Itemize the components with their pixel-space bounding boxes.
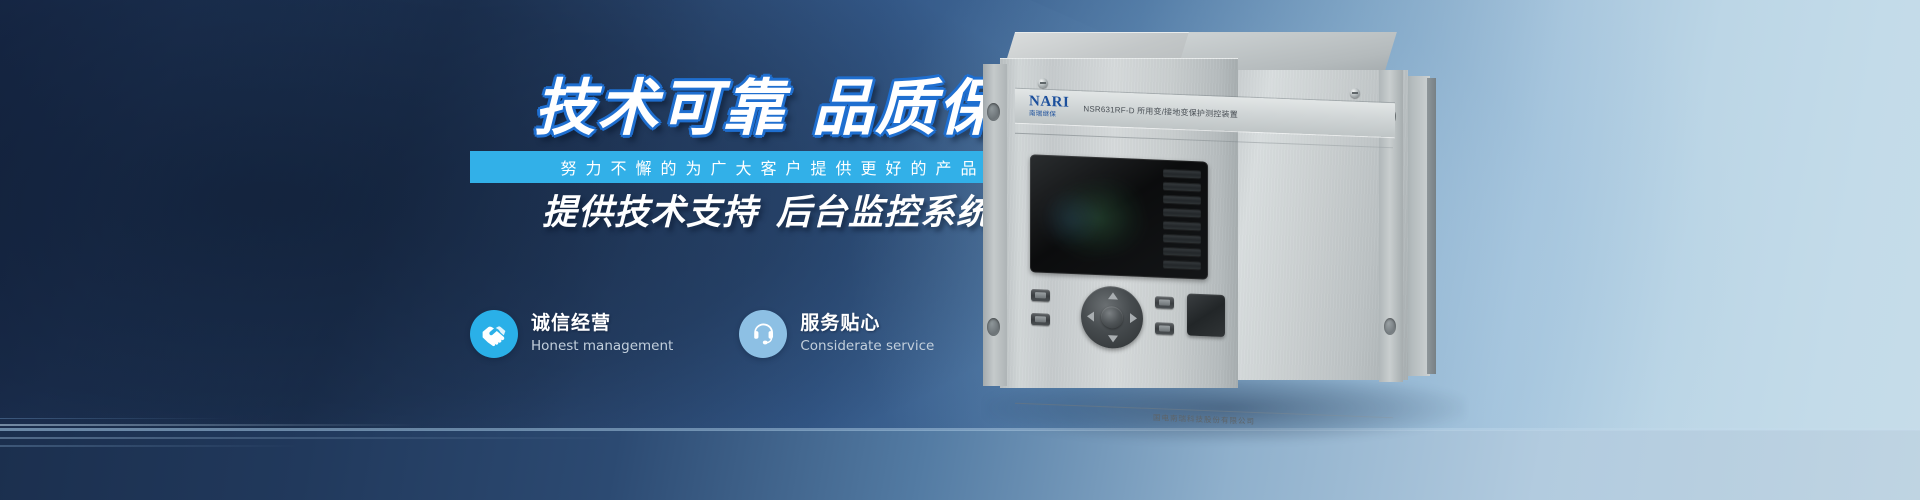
nari-logo: NARI 南瑞继保	[1029, 94, 1069, 119]
arrow-right-icon[interactable]	[1130, 313, 1137, 323]
mounting-hole	[987, 318, 1000, 336]
led-indicator	[1163, 234, 1201, 244]
screw	[1350, 88, 1360, 98]
arrow-down-icon[interactable]	[1108, 335, 1118, 342]
device-right-edge	[1427, 78, 1436, 374]
headset-icon	[739, 310, 787, 358]
device-model-label: NSR631RF-D 所用变/接地变保护测控装置	[1083, 103, 1238, 120]
headline-primary: 技术可靠品质保障	[0, 78, 1064, 139]
feature-title-en: Honest management	[531, 339, 673, 355]
handshake-icon	[470, 310, 518, 358]
led-indicator	[1163, 169, 1201, 179]
function-button[interactable]	[1155, 322, 1174, 335]
feature-item-considerate-service: 服务贴心 Considerate service	[739, 310, 934, 358]
feature-text: 服务贴心 Considerate service	[800, 313, 934, 354]
device-port-panel	[1187, 293, 1225, 337]
feature-text: 诚信经营 Honest management	[531, 313, 673, 354]
led-indicator-group	[1163, 169, 1201, 270]
function-button[interactable]	[1031, 313, 1050, 326]
dpad-navigation[interactable]	[1081, 285, 1143, 350]
brand-name-cn: 南瑞继保	[1029, 111, 1069, 119]
function-button[interactable]	[1155, 296, 1174, 309]
brand-name: NARI	[1029, 94, 1069, 111]
arrow-left-icon[interactable]	[1087, 311, 1094, 321]
led-indicator	[1163, 221, 1201, 231]
device-lcd-screen	[1030, 154, 1208, 279]
feature-title-cn: 服务贴心	[800, 313, 934, 335]
mounting-hole	[987, 103, 1000, 121]
headline-secondary: 提供技术支持后台监控系统调试	[0, 192, 1064, 234]
function-button[interactable]	[1031, 289, 1050, 302]
arrow-up-icon[interactable]	[1108, 292, 1118, 299]
led-indicator	[1163, 260, 1201, 270]
led-indicator	[1163, 182, 1201, 192]
copy-block: 技术可靠品质保障 努力不懈的为广大客户提供更好的产品 提供技术支持后台监控系统调…	[0, 0, 1120, 500]
feature-title-en: Considerate service	[800, 339, 934, 355]
subtitle-text: 努力不懈的为广大客户提供更好的产品	[551, 155, 985, 179]
led-indicator	[1163, 208, 1201, 218]
led-indicator	[1163, 195, 1201, 205]
screw	[1038, 78, 1048, 88]
device-control-panel	[1027, 285, 1277, 357]
headline-secondary-part1: 提供技术支持	[542, 193, 758, 232]
feature-title-cn: 诚信经营	[531, 313, 673, 335]
feature-item-honest-management: 诚信经营 Honest management	[470, 310, 673, 358]
led-indicator	[1163, 247, 1201, 257]
ok-button[interactable]	[1101, 306, 1123, 329]
hero-banner: 技术可靠品质保障 努力不懈的为广大客户提供更好的产品 提供技术支持后台监控系统调…	[0, 0, 1920, 500]
mounting-hole	[1384, 318, 1396, 335]
product-device: NARI 南瑞继保 NSR631RF-D 所用变/接地变保护测控装置	[975, 18, 1495, 438]
headline-primary-part1: 技术可靠	[534, 74, 786, 142]
